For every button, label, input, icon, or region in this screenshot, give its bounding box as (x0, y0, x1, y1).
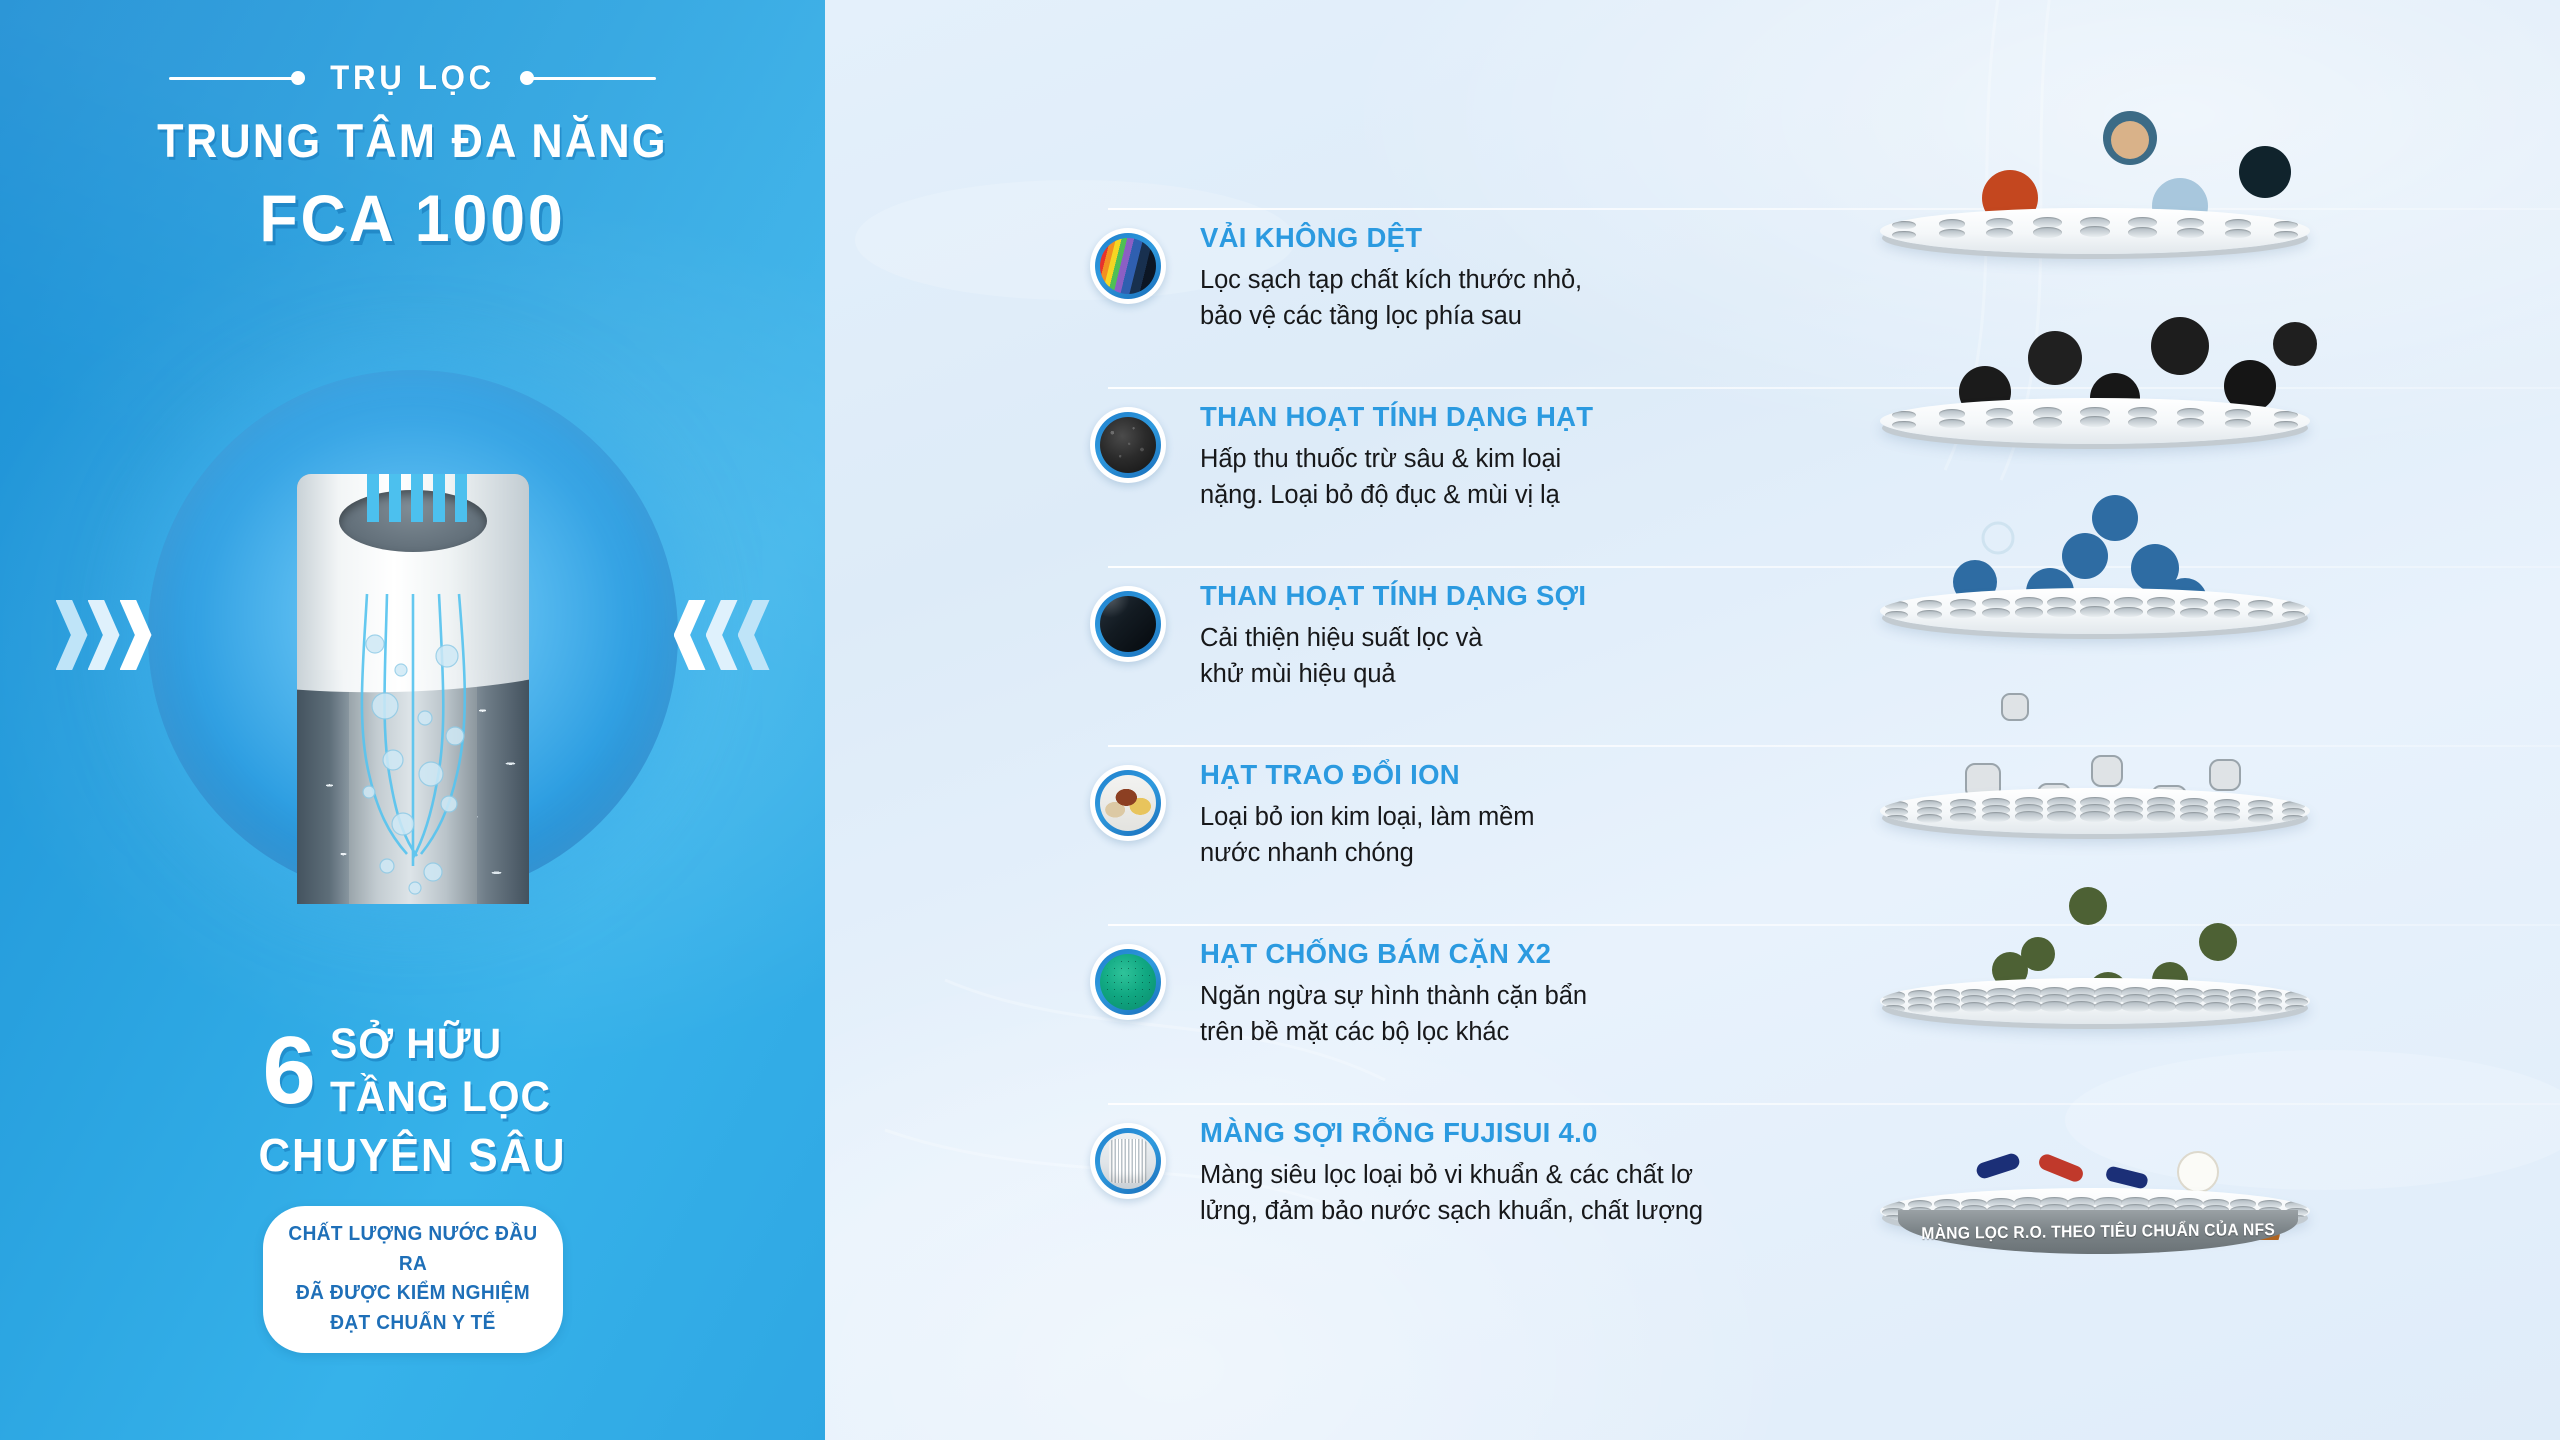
disc-hole (1934, 1003, 1960, 1012)
stage-title: THAN HOẠT TÍNH DẠNG HẠT (1200, 401, 1593, 433)
disc-hole (1885, 611, 1908, 619)
stage-title: MÀNG SỢI RỖNG FUJISUI 4.0 (1200, 1117, 1598, 1149)
disc-hole (2033, 227, 2062, 238)
disc-hole (1982, 812, 2010, 822)
disc-hole (1986, 418, 2014, 428)
flow-arrows-right-icon (674, 600, 770, 670)
bottom-line-1: SỞ HỮU (330, 1020, 551, 1069)
certification-badge: CHẤT LƯỢNG NƯỚC ĐẦU RA ĐÃ ĐƯỢC KIỂM NGHI… (263, 1206, 563, 1353)
disc-hole (2274, 221, 2298, 230)
disc-hole (2274, 421, 2298, 430)
disc-hole (2177, 408, 2205, 418)
disc-hole (1892, 411, 1916, 420)
filter-disc-1 (1880, 190, 2360, 260)
water-output-arrows-icon (355, 474, 475, 522)
filter-column (297, 474, 529, 904)
disc-hole (2014, 1001, 2042, 1012)
disc-hole (2214, 609, 2240, 619)
disc-hole (1939, 229, 1965, 239)
disc-hole (1950, 813, 1976, 823)
stage-description: Ngăn ngừa sự hình thành cặn bẩn trên bề … (1200, 978, 1900, 1050)
disc-hole (2225, 409, 2251, 419)
disc-hole (2282, 601, 2305, 609)
filter-disc-6-ro: MÀNG LỌC R.O. THEO TIÊU CHUẨN CỦA NFS (1880, 1170, 2360, 1310)
stage-title: VẢI KHÔNG DỆT (1200, 222, 1422, 254)
tagline-text: TRỤ LỌC (330, 59, 495, 98)
disc-hole (2080, 606, 2109, 617)
filter-column-illustration (148, 370, 678, 900)
disc-hole (2274, 411, 2298, 420)
stage-description: Lọc sạch tạp chất kích thước nhỏ, bảo vệ… (1200, 262, 1900, 334)
disc-hole (2033, 417, 2062, 428)
filter-disc-4 (1880, 770, 2360, 840)
disc-perforations (1880, 588, 2310, 634)
stage-description: Hấp thu thuốc trừ sâu & kim loại nặng. L… (1200, 441, 1900, 513)
disc-hole (1950, 609, 1976, 619)
filter-disc-2 (1880, 380, 2360, 450)
disc-hole (1982, 608, 2010, 618)
disc-hole (2147, 607, 2175, 618)
stage-description: Cải thiện hiệu suất lọc và khử mùi hiệu … (1200, 620, 1900, 692)
disc-perforations (1880, 978, 2310, 1024)
bottom-line-3: CHUYÊN SÂU (21, 1128, 805, 1182)
tagline-line-left (169, 77, 293, 80)
stage-row-1[interactable]: VẢI KHÔNG DỆT Lọc sạch tạp chất kích thư… (1090, 222, 1850, 401)
bottom-line-2: TẦNG LỌC (330, 1073, 551, 1122)
disc-hole (2128, 227, 2157, 238)
granular-activated-carbon-icon (1090, 407, 1166, 483)
disc-hole (2047, 607, 2076, 618)
disc-hole (2230, 1003, 2256, 1012)
disc-hole (2015, 607, 2043, 618)
disc-hole (2214, 599, 2240, 609)
product-model: FCA 1000 (21, 180, 805, 256)
disc-hole (1917, 814, 1942, 823)
disc-hole (2214, 813, 2240, 823)
disc-perforations (1880, 788, 2310, 834)
disc-hole (2274, 231, 2298, 240)
stage-row-6[interactable]: MÀNG SỢI RỖNG FUJISUI 4.0 Màng siêu lọc … (1090, 1117, 1850, 1296)
disc-hole (2080, 811, 2109, 822)
stage-description: Loại bỏ ion kim loại, làm mềm nước nhanh… (1200, 799, 1900, 871)
disc-hole (2248, 610, 2273, 619)
badge-line-1: CHẤT LƯỢNG NƯỚC ĐẦU RA (282, 1219, 542, 1278)
badge-line-2: ĐÃ ĐƯỢC KIỂM NGHIỆM (282, 1278, 542, 1308)
carbon-fiber-icon (1090, 586, 1166, 662)
disc-hole (2225, 419, 2251, 429)
badge-line-3: ĐẠT CHUẨN Y TẾ (282, 1308, 542, 1338)
disc-hole (1987, 1002, 2015, 1012)
disc-hole (1892, 221, 1916, 230)
disc-hole (1885, 601, 1908, 609)
disc-hole (1961, 1002, 1988, 1012)
disc-perforations (1880, 398, 2310, 444)
disc-hole (1982, 598, 2010, 608)
disc-hole (2114, 607, 2143, 618)
disc-hole (1917, 610, 1942, 619)
stage-title: HẠT CHỐNG BÁM CẶN X2 (1200, 938, 1551, 970)
flow-arrows-left-icon (56, 600, 152, 670)
disc-hole (1939, 409, 1965, 419)
disc-hole (2121, 1001, 2150, 1012)
disc-hole (2248, 600, 2273, 609)
disc-hole (2094, 1001, 2123, 1012)
stage-row-2[interactable]: THAN HOẠT TÍNH DẠNG HẠT Hấp thu thuốc tr… (1090, 401, 1850, 580)
filter-disc-stack: MÀNG LỌC R.O. THEO TIÊU CHUẨN CỦA NFS (1880, 170, 2360, 1310)
disc-hole (2147, 811, 2175, 822)
stage-title: HẠT TRAO ĐỔI ION (1200, 759, 1460, 791)
disc-hole (2225, 219, 2251, 229)
disc-hole (2180, 608, 2208, 618)
hollow-fiber-membrane-icon (1090, 1123, 1166, 1199)
nonwoven-fabric-icon (1090, 228, 1166, 304)
stage-description: Màng siêu lọc loại bỏ vi khuẩn & các chấ… (1200, 1157, 1900, 1229)
disc-hole (1986, 408, 2014, 418)
disc-hole (2047, 811, 2076, 822)
tagline-dot-left (291, 71, 305, 85)
disc-hole (1986, 228, 2014, 238)
product-subtitle: TRUNG TÂM ĐA NĂNG (33, 113, 792, 168)
disc-hole (2080, 416, 2109, 427)
stage-title: THAN HOẠT TÍNH DẠNG SỢI (1200, 580, 1586, 612)
disc-hole (2128, 417, 2157, 428)
disc-hole (1892, 231, 1916, 240)
disc-hole (2248, 814, 2273, 823)
disc-perforations (1880, 208, 2310, 254)
disc-hole (2177, 228, 2205, 238)
disc-hole (2148, 1001, 2176, 1012)
disc-hole (2177, 418, 2205, 428)
stage-row-3[interactable]: THAN HOẠT TÍNH DẠNG SỢI Cải thiện hiệu s… (1090, 580, 1850, 759)
ion-exchange-resin-icon (1090, 765, 1166, 841)
disc-hole (2203, 1002, 2230, 1012)
disc-hole (1939, 219, 1965, 229)
disc-hole (2015, 811, 2043, 822)
disc-hole (2180, 812, 2208, 822)
stage-row-5[interactable]: HẠT CHỐNG BÁM CẶN X2 Ngăn ngừa sự hình t… (1090, 938, 1850, 1117)
disc-hole (1892, 421, 1916, 430)
disc-hole (2180, 598, 2208, 608)
disc-hole (2114, 811, 2143, 822)
stage-list: VẢI KHÔNG DỆT Lọc sạch tạp chất kích thư… (1090, 222, 1850, 1296)
anti-scale-bead-icon (1090, 944, 1166, 1020)
ro-membrane-label: MÀNG LỌC R.O. THEO TIÊU CHUẨN CỦA NFS (1898, 1210, 2298, 1254)
disc-hole (1908, 1004, 1932, 1013)
right-panel: VẢI KHÔNG DỆT Lọc sạch tạp chất kích thư… (825, 0, 2560, 1440)
tagline-line-right (532, 77, 656, 80)
left-bottom-block: 6 SỞ HỮU TẦNG LỌC CHUYÊN SÂU CHẤT LƯỢNG … (0, 1020, 825, 1353)
disc-hole (2177, 218, 2205, 228)
disc-hole (2258, 1004, 2282, 1013)
stage-row-4[interactable]: HẠT TRAO ĐỔI ION Loại bỏ ion kim loại, l… (1090, 759, 1850, 938)
stage-count-number: 6 (263, 1028, 316, 1114)
disc-hole (1986, 218, 2014, 228)
left-header: TRỤ LỌC TRUNG TÂM ĐA NĂNG FCA 1000 (0, 55, 825, 256)
filter-disc-3 (1880, 570, 2360, 640)
disc-hole (1917, 600, 1942, 609)
tagline-row: TRỤ LỌC (0, 55, 825, 101)
disc-hole (2080, 226, 2109, 237)
disc-hole (1950, 599, 1976, 609)
filter-disc-5 (1880, 960, 2360, 1030)
infographic-root: TRỤ LỌC TRUNG TÂM ĐA NĂNG FCA 1000 (0, 0, 2560, 1440)
disc-hole (2040, 1001, 2069, 1012)
disc-hole (1939, 419, 1965, 429)
disc-hole (2175, 1002, 2203, 1012)
water-flow-lines (297, 474, 529, 904)
left-panel: TRỤ LỌC TRUNG TÂM ĐA NĂNG FCA 1000 (0, 0, 825, 1440)
disc-hole (2225, 229, 2251, 239)
disc-hole (2067, 1001, 2096, 1012)
